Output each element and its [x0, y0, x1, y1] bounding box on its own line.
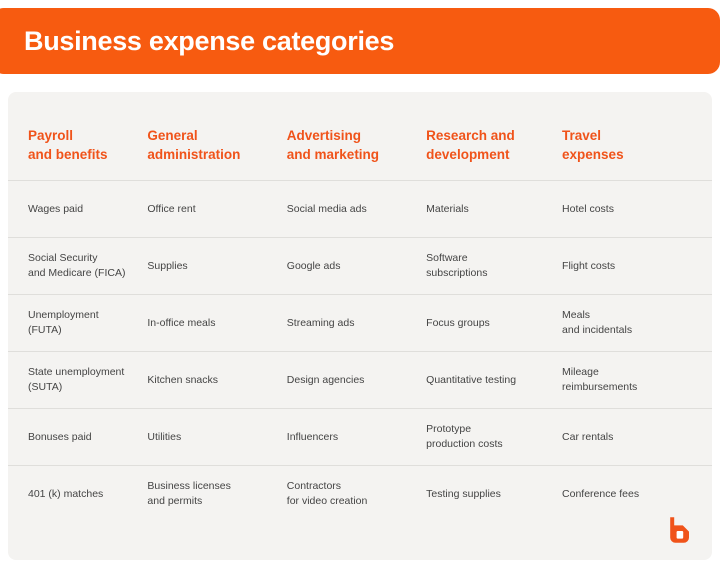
cell-line2: reimbursements	[562, 380, 692, 396]
infographic-page: Business expense categories Payroll and …	[0, 0, 720, 568]
table-row: Unemployment (FUTA) In-office meals Stre…	[8, 295, 712, 352]
table-row: State unemployment (SUTA) Kitchen snacks…	[8, 352, 712, 409]
cell-line1: In-office meals	[147, 316, 276, 332]
header-banner: Business expense categories	[0, 8, 720, 74]
cell-line1: Wages paid	[28, 202, 137, 218]
table-cell: Office rent	[147, 181, 286, 238]
table-cell: Social media ads	[287, 181, 426, 238]
cell-line1: Car rentals	[562, 430, 692, 446]
cell-line1: Office rent	[147, 202, 276, 218]
table-cell: Flight costs	[562, 238, 712, 295]
table-cell: Bonuses paid	[8, 409, 147, 466]
cell-line2: (FUTA)	[28, 323, 137, 339]
table-cell: Streaming ads	[287, 295, 426, 352]
cell-line1: Testing supplies	[426, 487, 552, 503]
cell-line1: State unemployment	[28, 365, 137, 381]
table-header-row: Payroll and benefits General administrat…	[8, 92, 712, 181]
cell-line1: Social media ads	[287, 202, 416, 218]
cell-line1: Hotel costs	[562, 202, 692, 218]
table-cell: Mileage reimbursements	[562, 352, 712, 409]
table-row: Social Security and Medicare (FICA) Supp…	[8, 238, 712, 295]
cell-line1: Utilities	[147, 430, 276, 446]
table-cell: Contractors for video creation	[287, 466, 426, 523]
cell-line2: for video creation	[287, 494, 416, 510]
cell-line1: Google ads	[287, 259, 416, 275]
cell-line1: Streaming ads	[287, 316, 416, 332]
cell-line2: and Medicare (FICA)	[28, 266, 137, 282]
table-cell: Car rentals	[562, 409, 712, 466]
cell-line1: Influencers	[287, 430, 416, 446]
bench-b-logo-icon	[668, 516, 692, 544]
table-cell: Supplies	[147, 238, 286, 295]
cell-line1: Design agencies	[287, 373, 416, 389]
cell-line2: production costs	[426, 437, 552, 453]
table-row: Bonuses paid Utilities Influencers Proto…	[8, 409, 712, 466]
cell-line1: Meals	[562, 308, 692, 324]
cell-line1: Materials	[426, 202, 552, 218]
column-header-general-administration: General administration	[147, 92, 286, 181]
table-cell: Influencers	[287, 409, 426, 466]
column-header-line2: development	[426, 145, 552, 164]
table-cell: In-office meals	[147, 295, 286, 352]
table-cell: Utilities	[147, 409, 286, 466]
cell-line1: Supplies	[147, 259, 276, 275]
column-header-line1: Payroll	[28, 126, 137, 145]
cell-line1: Quantitative testing	[426, 373, 552, 389]
column-header-line2: expenses	[562, 145, 692, 164]
table-cell: Prototype production costs	[426, 409, 562, 466]
column-header-line2: administration	[147, 145, 276, 164]
cell-line2: subscriptions	[426, 266, 552, 282]
expense-categories-card: Payroll and benefits General administrat…	[8, 92, 712, 560]
table-row: Wages paid Office rent Social media ads …	[8, 181, 712, 238]
cell-line2: and incidentals	[562, 323, 692, 339]
table-cell: Focus groups	[426, 295, 562, 352]
page-title: Business expense categories	[0, 26, 394, 57]
table-cell: Quantitative testing	[426, 352, 562, 409]
cell-line1: Prototype	[426, 422, 552, 438]
column-header-travel-expenses: Travel expenses	[562, 92, 712, 181]
table-cell: 401 (k) matches	[8, 466, 147, 523]
column-header-line1: Advertising	[287, 126, 416, 145]
cell-line1: Focus groups	[426, 316, 552, 332]
column-header-line1: Research and	[426, 126, 552, 145]
cell-line1: Bonuses paid	[28, 430, 137, 446]
cell-line1: 401 (k) matches	[28, 487, 137, 503]
table-cell: Testing supplies	[426, 466, 562, 523]
cell-line1: Mileage	[562, 365, 692, 381]
table-cell: Design agencies	[287, 352, 426, 409]
column-header-payroll-and-benefits: Payroll and benefits	[8, 92, 147, 181]
table-cell: Wages paid	[8, 181, 147, 238]
table-row: 401 (k) matches Business licenses and pe…	[8, 466, 712, 523]
cell-line1: Business licenses	[147, 479, 276, 495]
table-cell: Unemployment (FUTA)	[8, 295, 147, 352]
column-header-line2: and benefits	[28, 145, 137, 164]
table-cell: Software subscriptions	[426, 238, 562, 295]
table-cell: Business licenses and permits	[147, 466, 286, 523]
cell-line1: Software	[426, 251, 552, 267]
table-cell: Google ads	[287, 238, 426, 295]
cell-line2: (SUTA)	[28, 380, 137, 396]
cell-line1: Contractors	[287, 479, 416, 495]
column-header-line2: and marketing	[287, 145, 416, 164]
column-header-line1: Travel	[562, 126, 692, 145]
expense-categories-table: Payroll and benefits General administrat…	[8, 92, 712, 522]
cell-line1: Social Security	[28, 251, 137, 267]
table-cell: Materials	[426, 181, 562, 238]
cell-line1: Conference fees	[562, 487, 692, 503]
table-cell: Meals and incidentals	[562, 295, 712, 352]
cell-line1: Flight costs	[562, 259, 692, 275]
column-header-research-and-development: Research and development	[426, 92, 562, 181]
cell-line1: Kitchen snacks	[147, 373, 276, 389]
table-cell: State unemployment (SUTA)	[8, 352, 147, 409]
cell-line1: Unemployment	[28, 308, 137, 324]
table-cell: Hotel costs	[562, 181, 712, 238]
table-cell: Social Security and Medicare (FICA)	[8, 238, 147, 295]
table-cell: Kitchen snacks	[147, 352, 286, 409]
cell-line2: and permits	[147, 494, 276, 510]
column-header-line1: General	[147, 126, 276, 145]
column-header-advertising-and-marketing: Advertising and marketing	[287, 92, 426, 181]
table-cell: Conference fees	[562, 466, 712, 523]
